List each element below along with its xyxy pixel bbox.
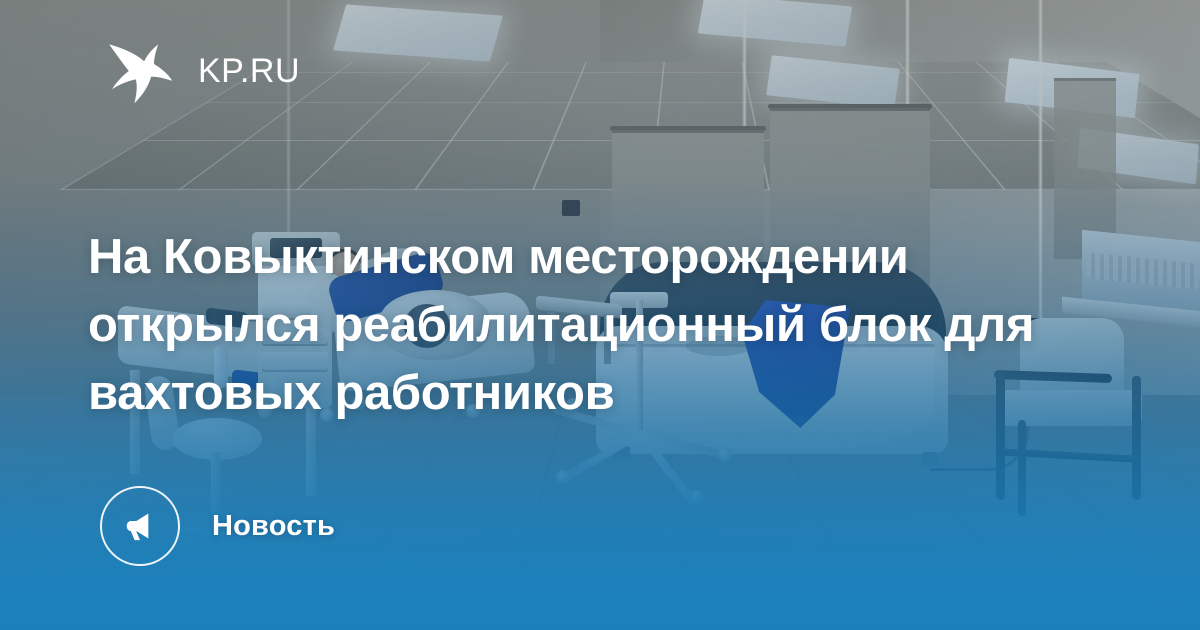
news-badge[interactable]: Новость <box>100 486 335 566</box>
megaphone-icon <box>100 486 180 566</box>
brand-logo[interactable]: KP.RU <box>104 36 300 106</box>
news-share-card: KP.RU На Ковыктинском месторождении откр… <box>0 0 1200 630</box>
page-title: На Ковыктинском месторождении открылся р… <box>88 223 1098 427</box>
brand-name: KP.RU <box>198 54 300 88</box>
news-badge-label: Новость <box>212 512 335 541</box>
card-content: KP.RU На Ковыктинском месторождении откр… <box>0 0 1200 630</box>
swallow-bird-icon <box>104 36 176 106</box>
